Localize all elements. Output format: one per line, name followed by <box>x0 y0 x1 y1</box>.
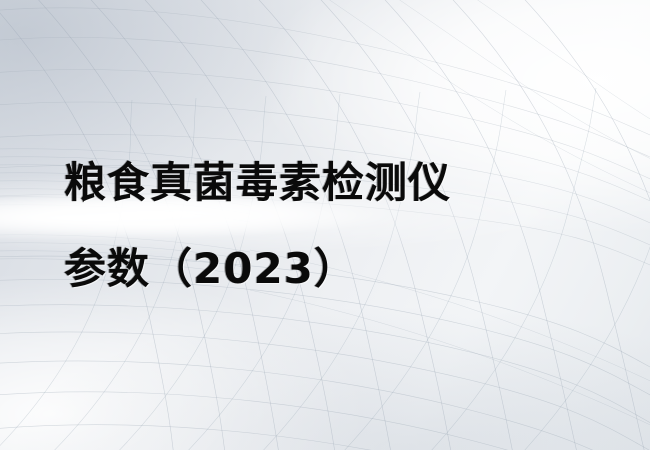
title-line-2: 参数（2023） <box>64 226 584 312</box>
title-block: 粮食真菌毒素检测仪 参数（2023） <box>64 140 584 312</box>
title-line-1: 粮食真菌毒素检测仪 <box>64 140 584 226</box>
banner-image: 粮食真菌毒素检测仪 参数（2023） <box>0 0 650 450</box>
